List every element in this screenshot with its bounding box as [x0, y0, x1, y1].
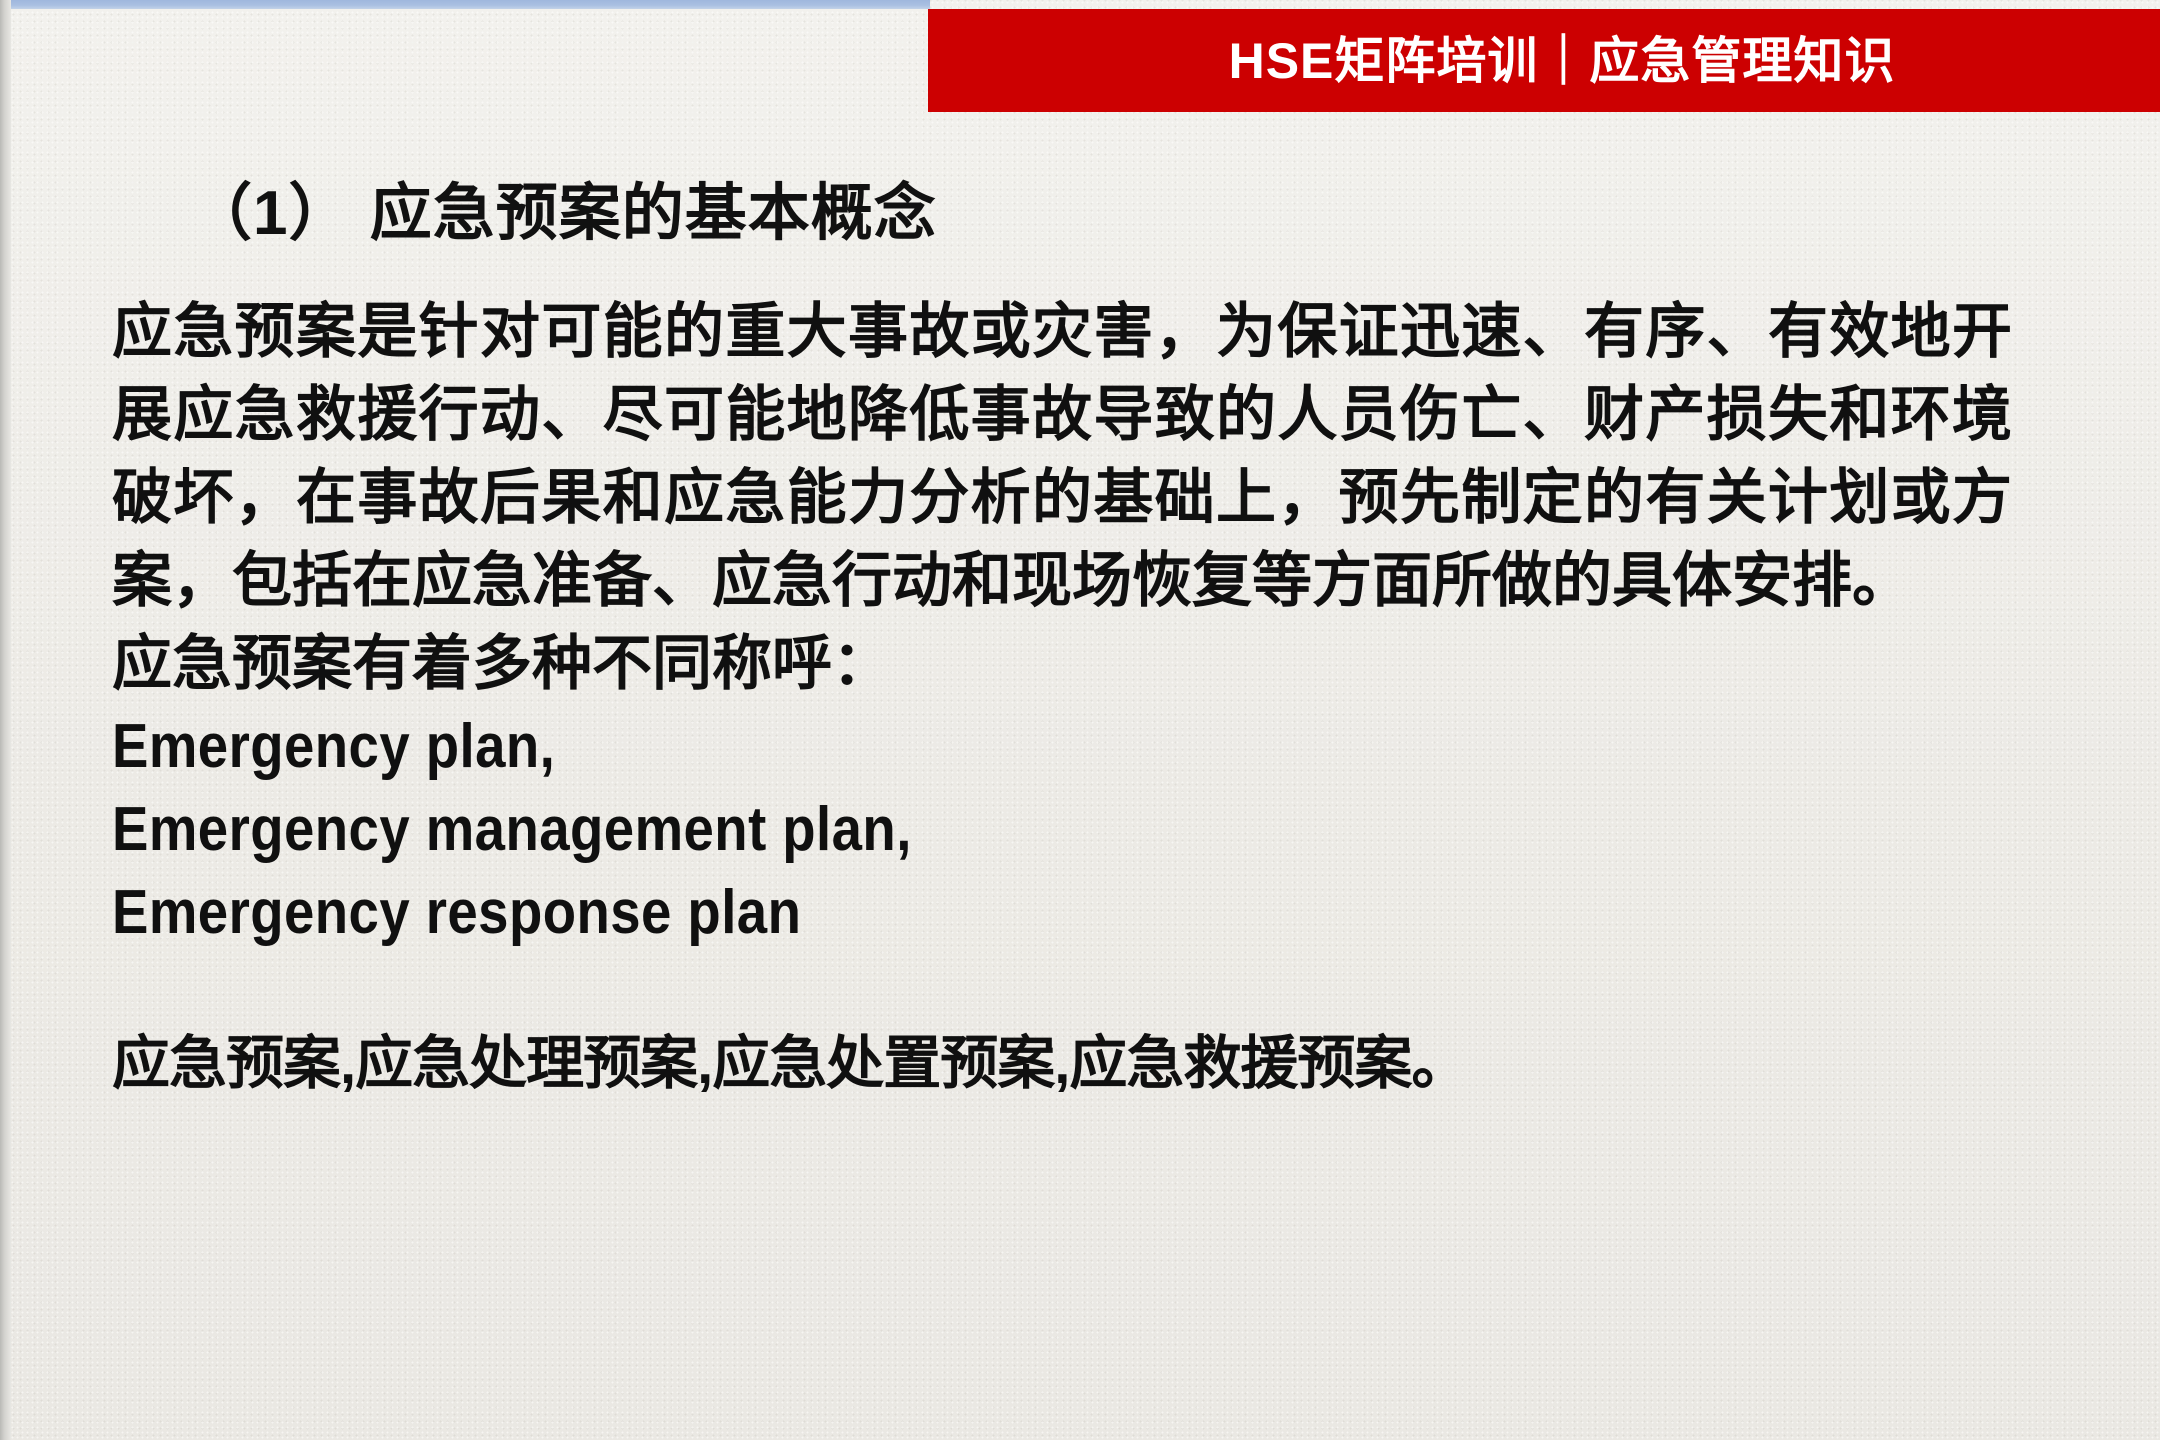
definition-paragraph: 应急预案是针对可能的重大事故或灾害，为保证迅速、有序、有效地开展应急救援行动、尽…	[112, 290, 2012, 622]
alias-cn-line: 应急预案,应急处理预案,应急处置预案,应急救援预案。	[112, 1022, 2012, 1105]
banner-title: HSE矩阵培训｜应急管理知识	[1229, 36, 1896, 86]
alias-intro-line: 应急预案有着多种不同称呼：	[112, 622, 2012, 705]
page-title: （1） 应急预案的基本概念	[190, 162, 937, 252]
alias-en-line-1: Emergency plan,	[112, 705, 1784, 788]
header-banner: HSE矩阵培训｜应急管理知识	[928, 9, 2160, 112]
slide-canvas: HSE矩阵培训｜应急管理知识 （1） 应急预案的基本概念 应急预案是针对可能的重…	[0, 0, 2160, 1440]
alias-en-line-3: Emergency response plan	[112, 871, 1784, 954]
top-blue-strip	[0, 0, 930, 9]
vertical-spacer	[112, 954, 2012, 1022]
left-edge-bevel	[0, 0, 11, 1440]
body-text-block: 应急预案是针对可能的重大事故或灾害，为保证迅速、有序、有效地开展应急救援行动、尽…	[112, 290, 2012, 1105]
alias-en-line-2: Emergency management plan,	[112, 788, 1784, 871]
